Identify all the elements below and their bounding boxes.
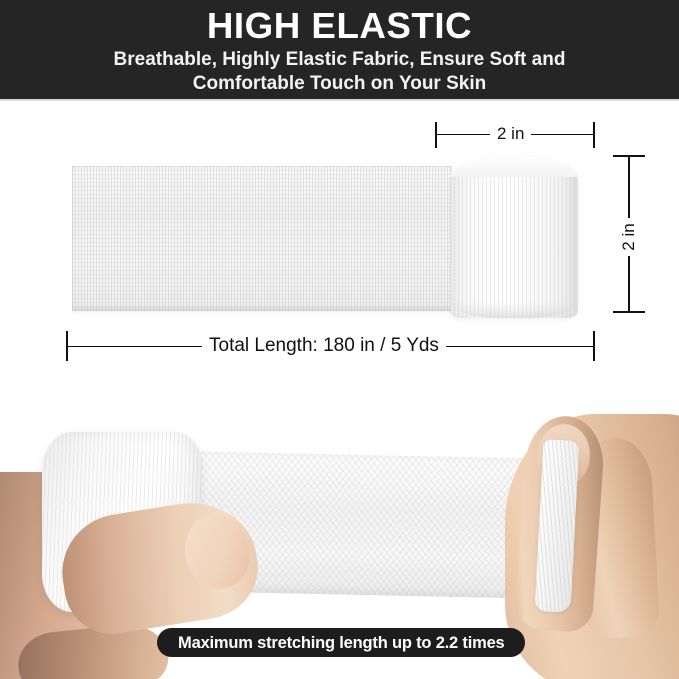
width-dim-cap-left: [435, 122, 437, 148]
top-product-photo: [0, 101, 679, 361]
width-dim-cap-right: [593, 122, 595, 148]
header-subtitle-line-1: Breathable, Highly Elastic Fabric, Ensur…: [0, 48, 679, 72]
length-dim-label: Total Length: 180 in / 5 Yds: [202, 335, 446, 357]
product-infographic: HIGH ELASTIC Breathable, Highly Elastic …: [0, 0, 679, 679]
tape-strip-flat: [72, 166, 452, 311]
stretch-callout-badge: Maximum stretching length up to 2.2 time…: [157, 628, 525, 657]
page-title: HIGH ELASTIC: [0, 6, 679, 46]
header-band: HIGH ELASTIC Breathable, Highly Elastic …: [0, 0, 679, 99]
width-dim-label: 2 in: [490, 124, 531, 144]
header-subtitle-line-2: Comfortable Touch on Your Skin: [0, 72, 679, 96]
tape-roll-standing: [450, 155, 578, 318]
stretch-callout-label: Maximum stretching length up to 2.2 time…: [178, 633, 504, 653]
height-dim-label: 2 in: [614, 218, 644, 256]
